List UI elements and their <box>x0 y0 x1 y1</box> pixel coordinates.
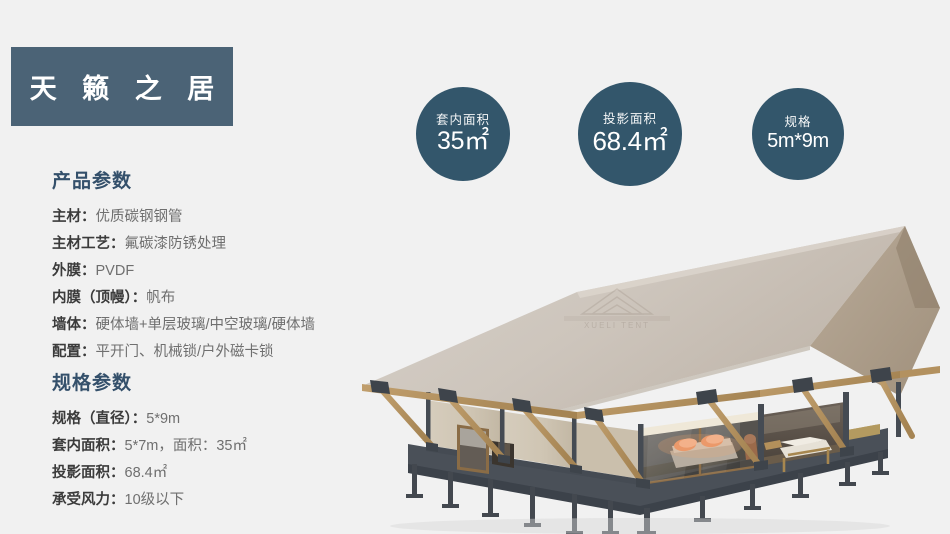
list-item: 规格（直径）：5*9m <box>52 406 247 433</box>
param-value: 帆布 <box>146 290 175 306</box>
list-item: 墙体：硬体墙+单层玻璃/中空玻璃/硬体墙 <box>52 312 315 339</box>
param-value: PVDF <box>96 263 135 279</box>
badge-indoor-area: 套内面积 35㎡ <box>416 87 510 181</box>
param-value: 10级以下 <box>125 492 185 508</box>
title-banner: 天 籁 之 居 <box>11 47 233 126</box>
section-heading-spec: 规格参数 <box>52 368 247 395</box>
param-key: 投影面积： <box>52 465 125 481</box>
param-key: 配置： <box>52 344 96 360</box>
list-item: 配置：平开门、机械锁/户外磁卡锁 <box>52 339 315 366</box>
badge-caption: 规格 <box>784 116 811 130</box>
spec-parameters-list: 规格（直径）：5*9m 套内面积：5*7m，面积：35㎡ 投影面积：68.4㎡ … <box>52 406 247 514</box>
list-item: 主材：优质碳钢钢管 <box>52 204 315 231</box>
param-key: 套内面积： <box>52 438 125 454</box>
watermark-text: XUELI TENT <box>556 321 678 330</box>
spec-parameters-section: 规格参数 规格（直径）：5*9m 套内面积：5*7m，面积：35㎡ 投影面积：6… <box>52 368 247 514</box>
badge-value: 5m*9m <box>767 131 829 152</box>
watermark: XUELI TENT <box>556 283 678 331</box>
param-key: 主材工艺： <box>52 236 125 252</box>
list-item: 投影面积：68.4㎡ <box>52 460 247 487</box>
param-value: 5*9m <box>146 411 180 427</box>
param-key: 主材： <box>52 209 96 225</box>
param-key: 墙体： <box>52 317 96 333</box>
param-key: 外膜： <box>52 263 96 279</box>
list-item: 承受风力：10级以下 <box>52 487 247 514</box>
list-item: 外膜：PVDF <box>52 258 315 285</box>
product-parameters-list: 主材：优质碳钢钢管 主材工艺：氟碳漆防锈处理 外膜：PVDF 内膜（顶幔）：帆布… <box>52 204 315 366</box>
section-heading-product: 产品参数 <box>52 166 315 193</box>
param-value: 优质碳钢钢管 <box>96 209 183 225</box>
badge-dimensions: 规格 5m*9m <box>752 88 844 180</box>
param-value: 氟碳漆防锈处理 <box>125 236 227 252</box>
param-value: 硬体墙+单层玻璃/中空玻璃/硬体墙 <box>96 317 316 333</box>
badge-caption: 套内面积 <box>436 114 490 128</box>
badge-value: 68.4㎡ <box>592 128 667 155</box>
param-value: 平开门、机械锁/户外磁卡锁 <box>96 344 274 360</box>
tent-house-render <box>340 196 950 534</box>
badge-projected-area: 投影面积 68.4㎡ <box>578 82 682 186</box>
param-key: 规格（直径）： <box>52 411 146 427</box>
list-item: 套内面积：5*7m，面积：35㎡ <box>52 433 247 460</box>
list-item: 主材工艺：氟碳漆防锈处理 <box>52 231 315 258</box>
param-value: 5*7m，面积：35㎡ <box>125 438 247 454</box>
param-key: 内膜（顶幔）： <box>52 290 146 306</box>
slide-canvas: 天 籁 之 居 产品参数 主材：优质碳钢钢管 主材工艺：氟碳漆防锈处理 外膜：P… <box>0 0 950 534</box>
param-value: 68.4㎡ <box>125 465 168 481</box>
list-item: 内膜（顶幔）：帆布 <box>52 285 315 312</box>
param-key: 承受风力： <box>52 492 125 508</box>
brand-title: 天 籁 之 居 <box>21 67 224 106</box>
badge-caption: 投影面积 <box>603 113 657 127</box>
badge-value: 35㎡ <box>437 128 489 154</box>
product-parameters-section: 产品参数 主材：优质碳钢钢管 主材工艺：氟碳漆防锈处理 外膜：PVDF 内膜（顶… <box>52 166 315 366</box>
